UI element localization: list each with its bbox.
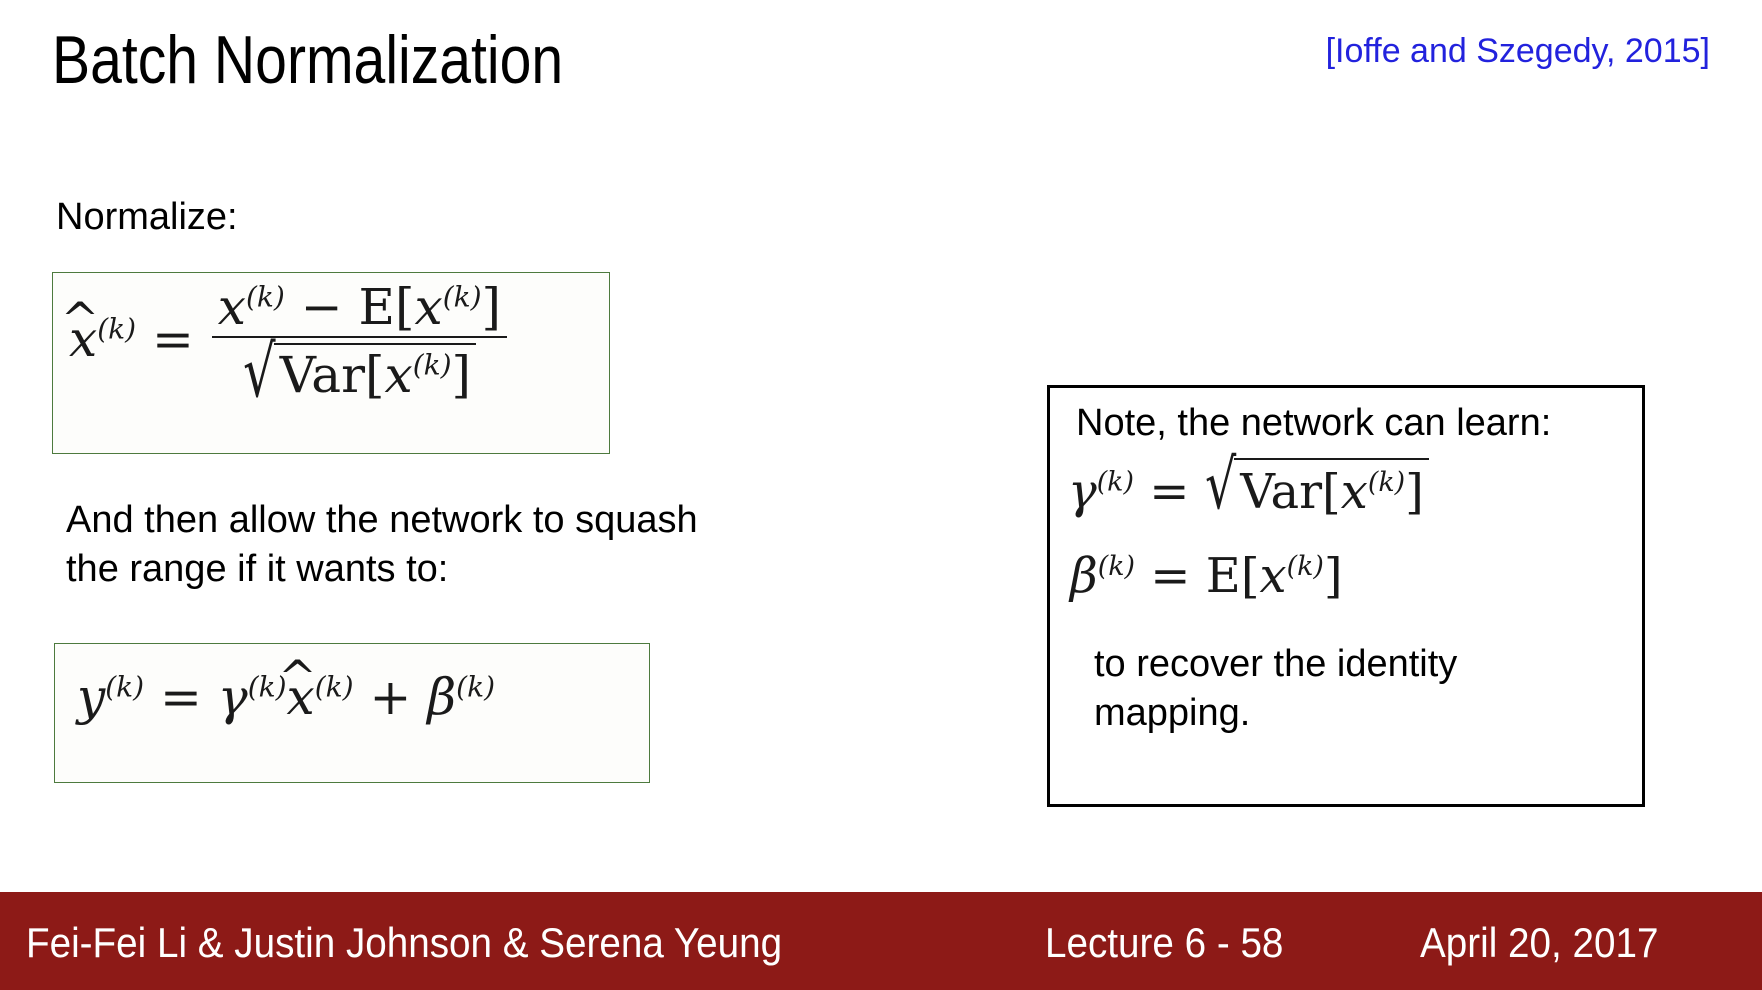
variance-symbol: Var [280, 346, 365, 404]
variance-symbol: Var [1240, 464, 1322, 520]
formula-normalize-expression: ^x(k) = x(k) − E[x(k)] √Var[x(k)] [69, 283, 509, 403]
x-hat-superscript: (k) [97, 312, 136, 345]
numerator-x: x [218, 278, 246, 336]
bracket-close: ] [482, 278, 502, 336]
expectation-symbol: E [1206, 548, 1241, 604]
note-box: Note, the network can learn: γ(k) = √Var… [1047, 385, 1645, 807]
body-text-line-1: And then allow the network to squash [66, 496, 786, 545]
fraction: x(k) − E[x(k)] √Var[x(k)] [212, 281, 507, 401]
numerator-x-superscript: (k) [246, 280, 285, 313]
equals-sign: = [1150, 548, 1190, 604]
page-title: Batch Normalization [52, 26, 563, 94]
slide-canvas: Batch Normalization [Ioffe and Szegedy, … [0, 0, 1762, 990]
formula-box-normalize: ^x(k) = x(k) − E[x(k)] √Var[x(k)] [52, 272, 610, 454]
formula-box-scale-shift: y(k) = γ(k)^x(k) + β(k) [54, 643, 650, 783]
gamma-symbol: γ [218, 668, 248, 726]
y-symbol: y [77, 668, 105, 726]
radicand: Var[x(k)] [274, 343, 476, 402]
equals-sign: = [152, 310, 194, 368]
beta-symbol: β [427, 668, 456, 726]
bracket-open: [ [1241, 548, 1260, 604]
body-text: And then allow the network to squash the… [66, 496, 786, 593]
expectation-symbol: E [359, 278, 396, 336]
footer-authors: Fei-Fei Li & Justin Johnson & Serena Yeu… [26, 919, 782, 967]
fraction-numerator: x(k) − E[x(k)] [212, 281, 507, 336]
variance-inner-x: x [1341, 464, 1368, 520]
beta-superscript: (k) [456, 670, 495, 703]
variance-bracket-close: ] [1405, 464, 1424, 520]
expectation-inner-superscript: (k) [443, 280, 482, 313]
minus-sign: − [301, 278, 343, 336]
expectation-inner-x: x [415, 278, 443, 336]
note-footer-line-2: mapping. [1094, 689, 1614, 738]
bracket-close: ] [1324, 548, 1343, 604]
beta-superscript: (k) [1098, 551, 1135, 582]
x-hat-symbol: ^x [287, 668, 315, 726]
formula-gamma-expression: γ(k) = √Var[x(k)] [1068, 456, 1429, 520]
equals-sign: = [160, 668, 202, 726]
formula-scale-shift-expression: y(k) = γ(k)^x(k) + β(k) [77, 668, 495, 726]
square-root: √Var[x(k)] [1205, 456, 1429, 520]
note-footer-line-1: to recover the identity [1094, 640, 1614, 689]
square-root: √Var[x(k)] [243, 341, 476, 402]
x-hat-superscript: (k) [315, 670, 354, 703]
body-text-line-2: the range if it wants to: [66, 545, 786, 594]
footer-lecture-number: Lecture 6 - 58 [1045, 919, 1283, 967]
radical-icon: √ [1205, 455, 1236, 518]
y-superscript: (k) [105, 670, 144, 703]
bracket-open: [ [395, 278, 415, 336]
note-footer-text: to recover the identity mapping. [1094, 640, 1614, 737]
normalize-label: Normalize: [56, 196, 238, 239]
variance-inner-superscript: (k) [1368, 467, 1405, 498]
variance-inner-x: x [385, 346, 413, 404]
fraction-denominator: √Var[x(k)] [212, 336, 507, 402]
x-hat-symbol: ^x [69, 310, 97, 368]
hat-accent-icon: ^ [278, 654, 317, 700]
variance-bracket-open: [ [365, 346, 385, 404]
beta-symbol: β [1070, 548, 1098, 604]
variance-inner-superscript: (k) [413, 348, 452, 381]
expectation-inner-x: x [1260, 548, 1287, 604]
hat-accent-icon: ^ [61, 296, 100, 342]
radicand: Var[x(k)] [1234, 458, 1428, 520]
citation-link[interactable]: [Ioffe and Szegedy, 2015] [1326, 32, 1710, 71]
gamma-superscript: (k) [1097, 467, 1134, 498]
variance-bracket-open: [ [1322, 464, 1341, 520]
variance-bracket-close: ] [452, 346, 472, 404]
radical-icon: √ [243, 339, 276, 404]
note-heading: Note, the network can learn: [1076, 402, 1551, 445]
plus-sign: + [369, 668, 411, 726]
formula-beta-expression: β(k) = E[x(k)] [1070, 548, 1343, 604]
equals-sign: = [1149, 464, 1189, 520]
expectation-inner-superscript: (k) [1287, 551, 1324, 582]
footer-bar: Fei-Fei Li & Justin Johnson & Serena Yeu… [0, 892, 1762, 990]
gamma-symbol: γ [1068, 464, 1097, 520]
footer-date: April 20, 2017 [1420, 919, 1658, 967]
